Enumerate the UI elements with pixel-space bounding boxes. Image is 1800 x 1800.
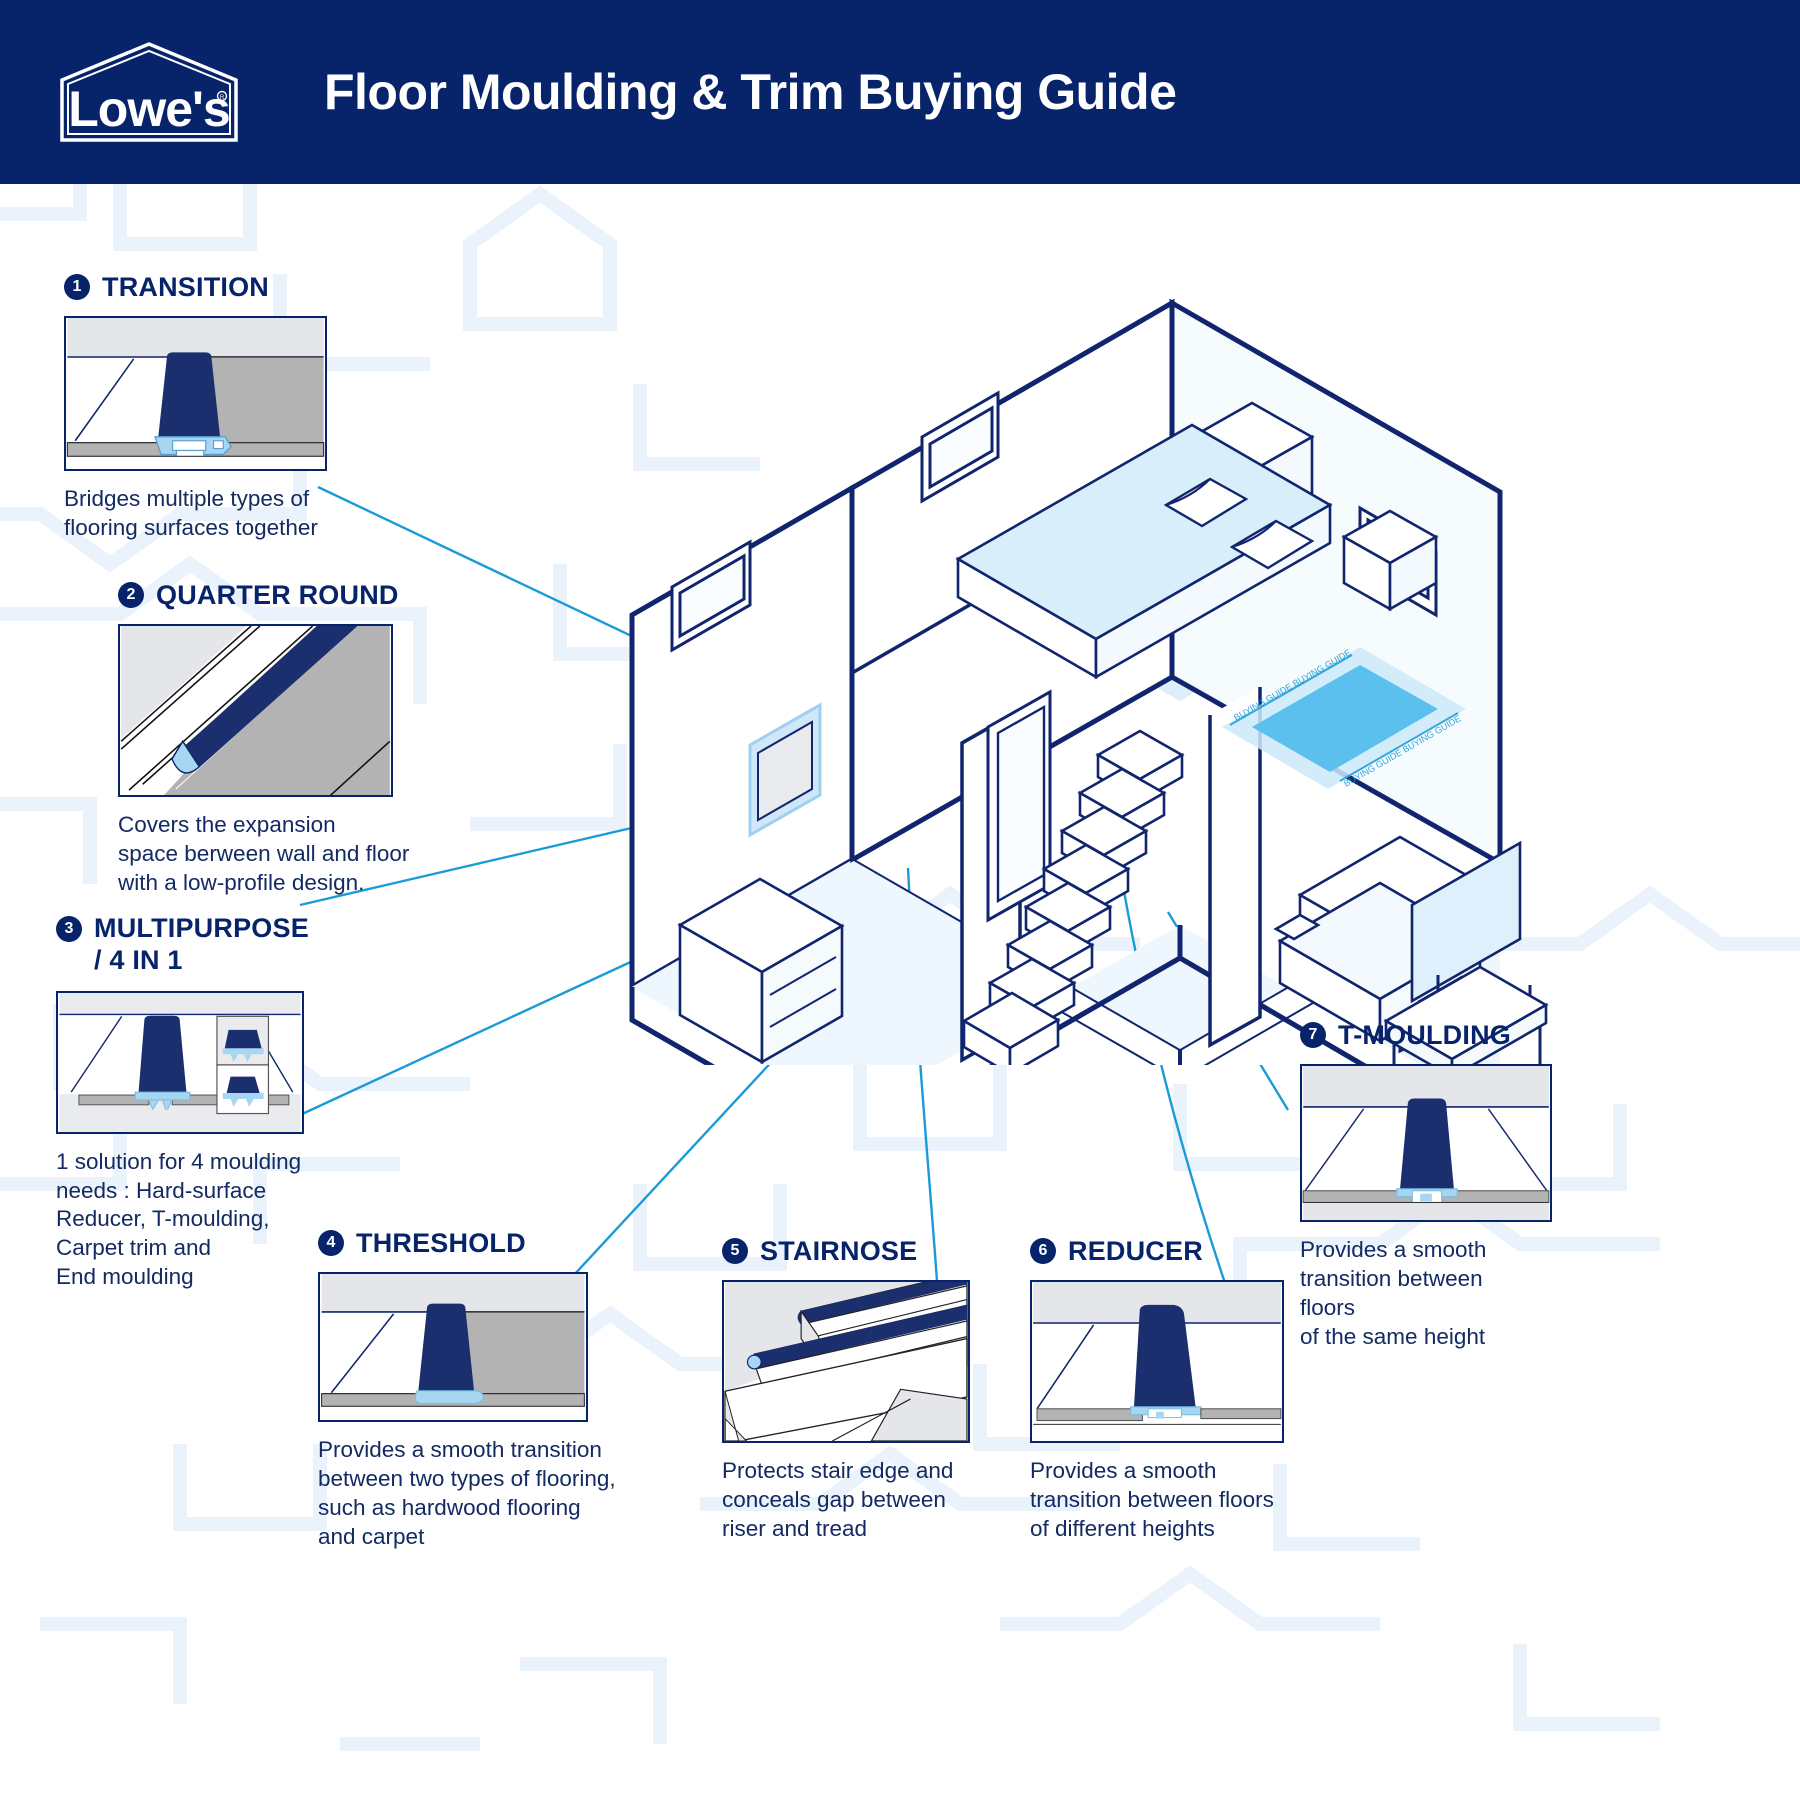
panel-reducer: 6 REDUCER Provides a smooth transition b… [1030,1236,1290,1544]
panel-quarter-round-title: QUARTER ROUND [156,580,399,610]
t-moulding-profile-diagram [1300,1064,1552,1222]
panel-number-badge: 5 [722,1238,748,1264]
panel-threshold: 4 THRESHOLD Provides a smooth transition… [318,1228,638,1551]
panel-quarter-round-header: 2 QUARTER ROUND [118,580,428,610]
panel-number-badge: 2 [118,582,144,608]
panel-t-moulding-description: Provides a smooth transition between flo… [1300,1236,1540,1351]
panel-number-badge: 6 [1030,1238,1056,1264]
quarter-round-diagram [118,624,393,797]
panel-number-badge: 4 [318,1230,344,1256]
panel-t-moulding: 7 T-MOULDING Provides a smooth transitio… [1300,1020,1540,1351]
multipurpose-profile-diagram [56,991,304,1134]
panel-multipurpose-title: MULTIPURPOSE / 4 IN 1 [94,912,309,977]
lowes-logo: Lowe's R [56,38,266,146]
threshold-profile-diagram [318,1272,588,1422]
panel-number-badge: 3 [56,916,82,942]
panel-transition-header: 1 TRANSITION [64,272,374,302]
panel-t-moulding-title: T-MOULDING [1338,1020,1511,1050]
panel-number-badge: 7 [1300,1022,1326,1048]
panel-threshold-header: 4 THRESHOLD [318,1228,638,1258]
panel-transition-title: TRANSITION [102,272,269,302]
transition-profile-diagram [64,316,327,471]
panel-threshold-description: Provides a smooth transition between two… [318,1436,638,1551]
panel-stairnose-description: Protects stair edge and conceals gap bet… [722,1457,972,1543]
panel-number-badge: 1 [64,274,90,300]
panel-stairnose-title: STAIRNOSE [760,1236,917,1266]
panel-transition: 1 TRANSITION Bridges multiple types of f… [64,272,374,543]
page-title: Floor Moulding & Trim Buying Guide [324,63,1176,121]
panel-reducer-header: 6 REDUCER [1030,1236,1290,1266]
stairnose-diagram [722,1280,970,1443]
panel-reducer-description: Provides a smooth transition between flo… [1030,1457,1290,1543]
panel-multipurpose-header: 3 MULTIPURPOSE / 4 IN 1 [56,912,366,977]
isometric-cutaway-house: BUYING GUIDE BUYING GUIDE BUYING GUIDE B… [600,215,1550,1065]
panel-quarter-round-description: Covers the expansion space berween wall … [118,811,428,897]
panel-t-moulding-header: 7 T-MOULDING [1300,1020,1540,1050]
reducer-profile-diagram [1030,1280,1284,1443]
svg-text:Lowe's: Lowe's [68,81,229,137]
panel-stairnose: 5 STAIRNOSE Protects stair edge and conc… [722,1236,972,1544]
panel-reducer-title: REDUCER [1068,1236,1203,1266]
panel-stairnose-header: 5 STAIRNOSE [722,1236,972,1266]
svg-text:R: R [220,95,225,101]
page-header: Lowe's R Floor Moulding & Trim Buying Gu… [0,0,1800,184]
panel-threshold-title: THRESHOLD [356,1228,526,1258]
panel-transition-description: Bridges multiple types of flooring surfa… [64,485,374,543]
panel-quarter-round: 2 QUARTER ROUND Covers the expansion spa… [118,580,428,898]
